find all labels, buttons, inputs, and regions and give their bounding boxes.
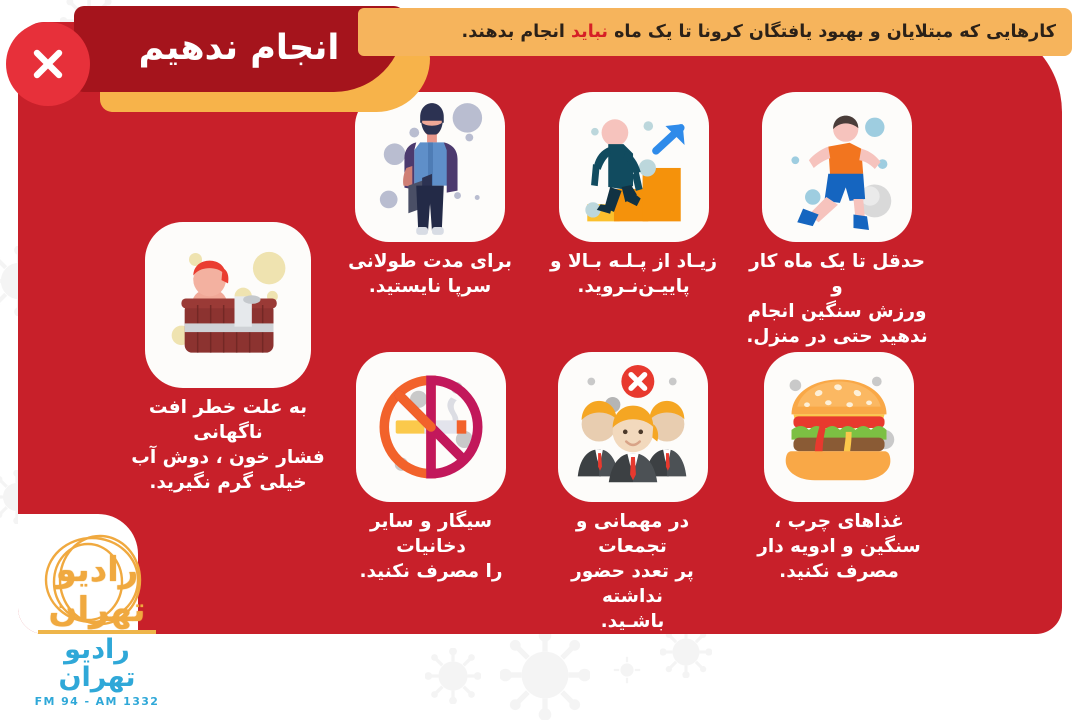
logo-name: رادیو تهران xyxy=(32,636,162,693)
icon-card xyxy=(558,352,708,502)
bathtub-icon xyxy=(163,240,293,370)
icon-card xyxy=(764,352,914,502)
virus-decoration-tiny xyxy=(612,655,642,685)
advice-item-bath[interactable]: به علت خطر افت ناگهانی فشار خون ، دوش آب… xyxy=(128,222,328,496)
advice-caption: سیگار و سایر دخانیات را مصرف نکنید. xyxy=(336,510,526,585)
virus-decoration-bottom-left xyxy=(425,648,481,704)
banner-text-before: کارهایی که مبتلایان و بهبود یافتگان کرون… xyxy=(608,22,1056,42)
running-sport-icon xyxy=(774,104,900,230)
icon-card xyxy=(356,352,506,502)
advice-caption: زیـاد از پـلـه بـالا و پاییـن‌نـروید. xyxy=(546,250,721,300)
burger-icon xyxy=(776,364,902,490)
advice-item-standing[interactable]: برای مدت طولانی سرپا نایستید. xyxy=(340,92,520,300)
advice-caption: برای مدت طولانی سرپا نایستید. xyxy=(340,250,520,300)
advice-caption: حدقل تا یک ماه کار و ورزش سنگین انجام ند… xyxy=(742,250,932,350)
virus-decoration-bottom-center xyxy=(500,630,590,720)
advice-caption: به علت خطر افت ناگهانی فشار خون ، دوش آب… xyxy=(128,396,328,496)
advice-caption: غذاهای چرب ، سنگین و ادویه دار مصرف نکنی… xyxy=(744,510,934,585)
advice-item-sport[interactable]: حدقل تا یک ماه کار و ورزش سنگین انجام ند… xyxy=(742,92,932,350)
advice-caption: در مهمانی و تجمعات پر تعدد حضور نداشته ب… xyxy=(540,510,725,635)
logo-rings: رادیو تهران xyxy=(32,534,162,630)
no-smoking-icon xyxy=(369,365,493,489)
close-x-icon xyxy=(26,42,70,86)
title-ribbon: انجام ندهیم xyxy=(74,6,404,92)
banner-highlight: نباید xyxy=(571,22,608,42)
advice-item-smoking[interactable]: سیگار و سایر دخانیات را مصرف نکنید. xyxy=(336,352,526,585)
icon-card xyxy=(145,222,311,388)
advice-item-crowd[interactable]: در مهمانی و تجمعات پر تعدد حضور نداشته ب… xyxy=(540,352,725,635)
close-x-badge[interactable] xyxy=(6,22,90,106)
header-banner: کارهایی که مبتلایان و بهبود یافتگان کرون… xyxy=(358,8,1072,56)
climbing-stairs-icon xyxy=(572,105,696,229)
header: انجام ندهیم کارهایی که مبتلایان و بهبود … xyxy=(0,0,1080,120)
logo-frequency: FM 94 - AM 1332 xyxy=(32,695,162,708)
crowd-forbidden-icon xyxy=(570,364,696,490)
banner-text-after: انجام بدهند. xyxy=(462,22,571,42)
page-title: انجام ندهیم xyxy=(139,28,340,68)
radio-tehran-logo: رادیو تهران رادیو تهران FM 94 - AM 1332 xyxy=(32,534,162,684)
logo-script: رادیو تهران xyxy=(32,550,162,630)
banner-text: کارهایی که مبتلایان و بهبود یافتگان کرون… xyxy=(462,22,1056,42)
advice-item-stairs[interactable]: زیـاد از پـلـه بـالا و پاییـن‌نـروید. xyxy=(546,92,721,300)
advice-item-food[interactable]: غذاهای چرب ، سنگین و ادویه دار مصرف نکنی… xyxy=(744,352,934,585)
